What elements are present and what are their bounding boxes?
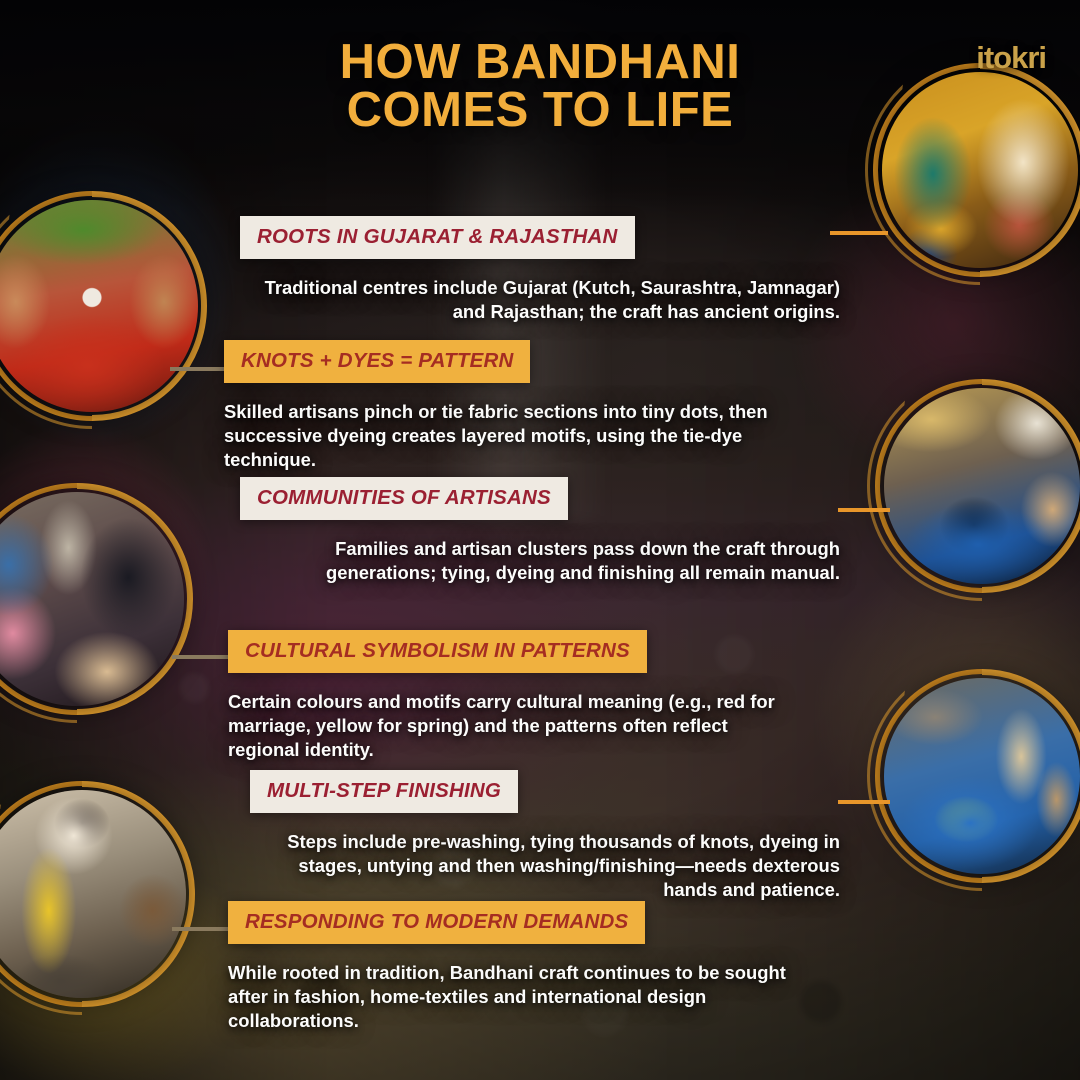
section-communities-of-artisans: COMMUNITIES OF ARTISANS Families and art… [240,477,840,585]
infographic-poster: HOW BANDHANI COMES TO LIFE itokri ROOTS … [0,0,1080,1080]
section-6-body: While rooted in tradition, Bandhani craf… [228,961,788,1033]
section-3-heading: COMMUNITIES OF ARTISANS [240,477,568,520]
section-2-heading: KNOTS + DYES = PATTERN [224,340,530,383]
section-5-body: Steps include pre-washing, tying thousan… [250,830,840,902]
section-responding-to-modern-demands: RESPONDING TO MODERN DEMANDS While roote… [228,901,788,1033]
section-4-heading: CULTURAL SYMBOLISM IN PATTERNS [228,630,647,673]
connector-line-4 [172,655,228,659]
section-1-heading: ROOTS IN GUJARAT & RAJASTHAN [240,216,635,259]
brand-logo-itokri[interactable]: itokri [976,40,1046,76]
connector-line-6 [172,927,228,931]
section-cultural-symbolism-in-patterns: CULTURAL SYMBOLISM IN PATTERNS Certain c… [228,630,788,762]
section-4-body: Certain colours and motifs carry cultura… [228,690,788,762]
section-2-body: Skilled artisans pinch or tie fabric sec… [224,400,784,472]
section-3-body: Families and artisan clusters pass down … [240,537,840,585]
photo-fabric-bundles-in-indigo-dye-vat [884,678,1080,874]
section-multi-step-finishing: MULTI-STEP FINISHING Steps include pre-w… [250,770,840,902]
section-knots-dyes-pattern: KNOTS + DYES = PATTERN Skilled artisans … [224,340,784,472]
photo-hands-tying-red-fabric-knots [0,200,198,412]
connector-line-5 [838,800,890,804]
section-roots-in-gujarat-rajasthan: ROOTS IN GUJARAT & RAJASTHAN Traditional… [240,216,840,324]
section-5-heading: MULTI-STEP FINISHING [250,770,518,813]
section-6-heading: RESPONDING TO MODERN DEMANDS [228,901,645,944]
photo-artisan-dipping-fabric-in-blue-dye-tub [884,388,1080,584]
brand-logo-text: itokri [976,40,1046,75]
connector-line-2 [170,367,226,371]
page-title: HOW BANDHANI COMES TO LIFE [0,38,1080,134]
photo-dyer-lifting-yellow-tie-dyed-fabric [0,790,186,998]
title-line-1: HOW BANDHANI [0,38,1080,86]
title-line-2: COMES TO LIFE [0,86,1080,134]
connector-line-3 [838,508,890,512]
photo-women-artisans-tying-fabric-bundle [0,492,184,706]
section-1-body: Traditional centres include Gujarat (Kut… [240,276,840,324]
